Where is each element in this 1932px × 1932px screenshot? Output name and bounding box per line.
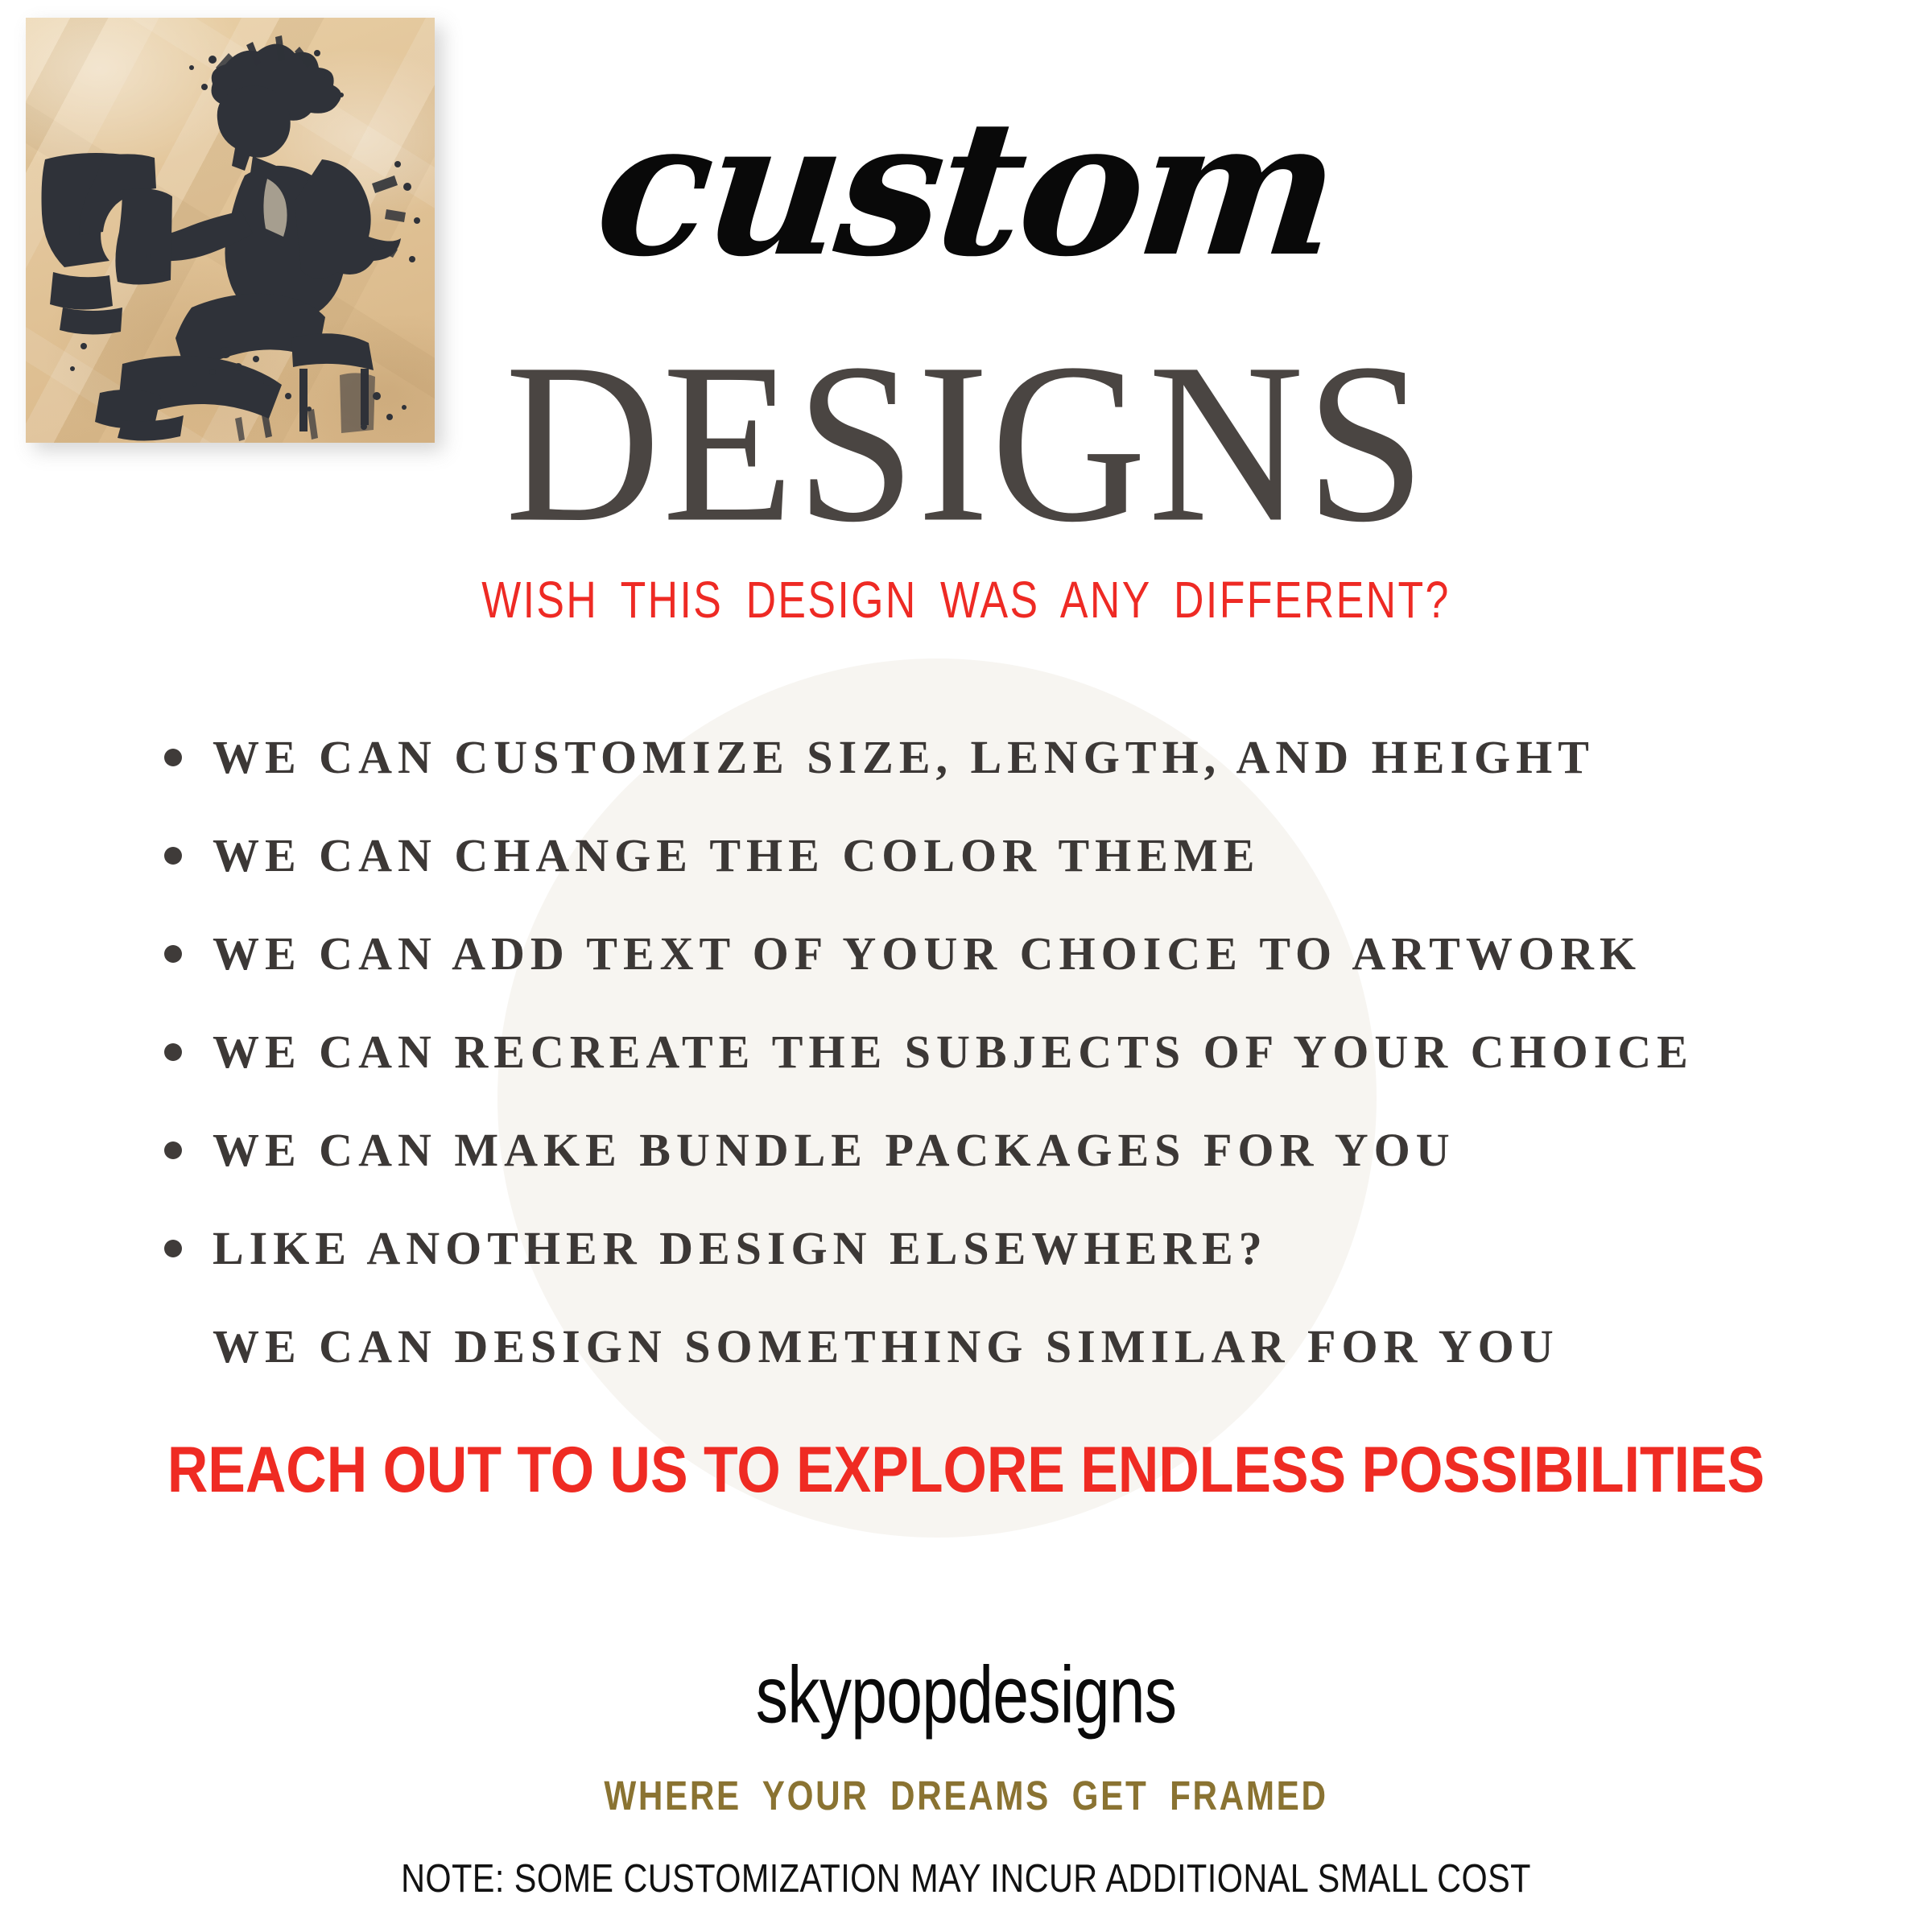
brand-name: skypopdesigns [155,1655,1777,1736]
bullet-dot-icon [164,945,182,963]
feature-label: LIKE ANOTHER DESIGN ELSEWHERE? [213,1225,1268,1272]
headline-designs: DESIGNS [451,328,1481,557]
list-item: WE CAN CHANGE THE COLOR THEME [161,807,1819,905]
feature-list: WE CAN CUSTOMIZE SIZE, LENGTH, AND HEIGH… [161,708,1819,1396]
bullet-dot-icon [164,1240,182,1257]
feature-label: WE CAN RECREATE THE SUBJECTS OF YOUR CHO… [213,1029,1694,1075]
list-item-continuation: WE CAN DESIGN SOMETHING SIMILAR FOR YOU [161,1298,1819,1396]
list-item: WE CAN CUSTOMIZE SIZE, LENGTH, AND HEIGH… [161,708,1819,807]
feature-label: WE CAN MAKE BUNDLE PACKAGES FOR YOU [213,1127,1455,1174]
feature-label: WE CAN CHANGE THE COLOR THEME [213,832,1260,879]
bullet-dot-icon [164,1043,182,1061]
footer-note: NOTE: SOME CUSTOMIZATION MAY INCUR ADDIT… [97,1859,1835,1898]
list-item: WE CAN RECREATE THE SUBJECTS OF YOUR CHO… [161,1003,1819,1101]
subtitle-question: WISH THIS DESIGN WAS ANY DIFFERENT? [39,575,1893,626]
headline-custom-script: custom [0,95,1932,282]
cta-reach-out: REACH OUT TO US TO EXPLORE ENDLESS POSSI… [29,1438,1903,1503]
feature-label: WE CAN DESIGN SOMETHING SIMILAR FOR YOU [213,1323,1559,1370]
list-item: WE CAN ADD TEXT OF YOUR CHOICE TO ARTWOR… [161,905,1819,1003]
bullet-dot-icon [164,749,182,766]
bullet-dot-icon [164,1141,182,1159]
bullet-dot-icon [164,847,182,865]
brand-tagline: WHERE YOUR DREAMS GET FRAMED [116,1777,1816,1818]
feature-label: WE CAN ADD TEXT OF YOUR CHOICE TO ARTWOR… [213,931,1641,977]
feature-label: WE CAN CUSTOMIZE SIZE, LENGTH, AND HEIGH… [213,734,1595,781]
list-item: WE CAN MAKE BUNDLE PACKAGES FOR YOU [161,1101,1819,1199]
list-item: LIKE ANOTHER DESIGN ELSEWHERE? [161,1199,1819,1298]
